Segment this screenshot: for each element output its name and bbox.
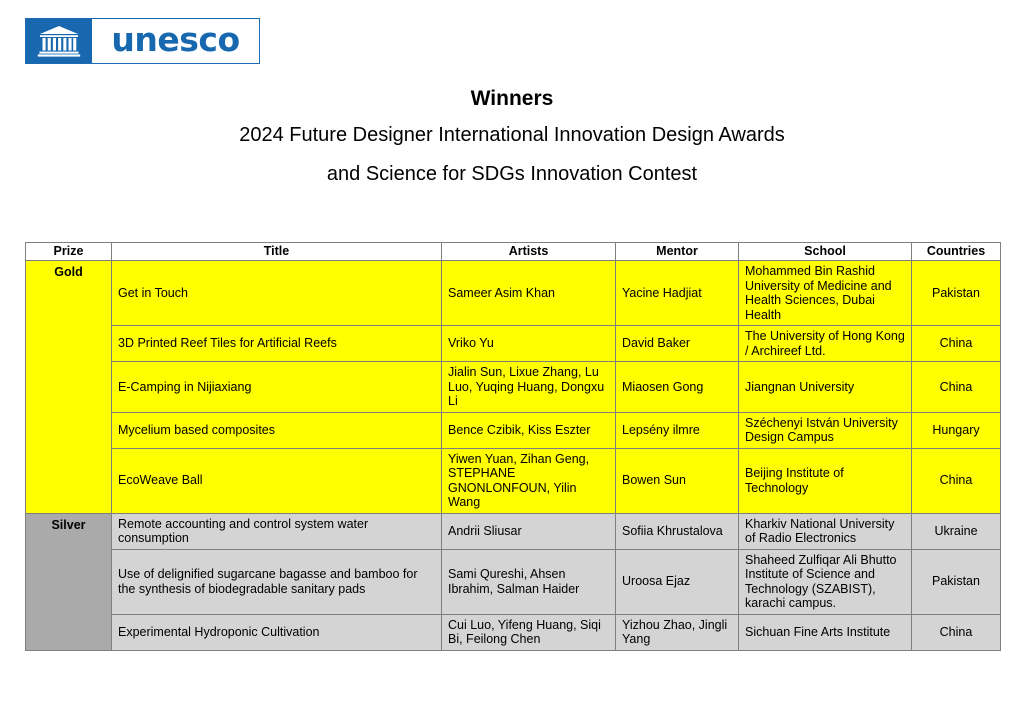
page-subtitle-line-2: and Science for SDGs Innovation Contest [0,155,1024,194]
cell-mentor: Miaosen Gong [616,362,739,413]
cell-mentor: Sofiia Khrustalova [616,513,739,549]
table-row: EcoWeave BallYiwen Yuan, Zihan Geng, STE… [26,448,1001,513]
column-header-countries: Countries [912,243,1001,261]
unesco-temple-icon [26,19,92,63]
cell-country: Pakistan [912,261,1001,326]
cell-title: Remote accounting and control system wat… [112,513,442,549]
cell-mentor: David Baker [616,326,739,362]
cell-title: Experimental Hydroponic Cultivation [112,614,442,650]
table-row: Use of delignified sugarcane bagasse and… [26,549,1001,614]
cell-country: China [912,614,1001,650]
cell-country: Hungary [912,412,1001,448]
cell-country: China [912,326,1001,362]
cell-artists: Bence Czibik, Kiss Eszter [442,412,616,448]
table-row: GoldGet in TouchSameer Asim KhanYacine H… [26,261,1001,326]
page-title-block: Winners 2024 Future Designer Internation… [0,82,1024,194]
cell-mentor: Yizhou Zhao, Jingli Yang [616,614,739,650]
table-row: Experimental Hydroponic CultivationCui L… [26,614,1001,650]
cell-title: E-Camping in Nijiaxiang [112,362,442,413]
cell-mentor: Yacine Hadjiat [616,261,739,326]
cell-school: Jiangnan University [739,362,912,413]
cell-school: Mohammed Bin Rashid University of Medici… [739,261,912,326]
prize-group-cell: Silver [26,513,112,650]
cell-title: 3D Printed Reef Tiles for Artificial Ree… [112,326,442,362]
page-subtitle-line-1: 2024 Future Designer International Innov… [0,116,1024,155]
table-header-row: Prize Title Artists Mentor School Countr… [26,243,1001,261]
column-header-prize: Prize [26,243,112,261]
cell-title: EcoWeave Ball [112,448,442,513]
cell-school: Beijing Institute of Technology [739,448,912,513]
column-header-artists: Artists [442,243,616,261]
unesco-wordmark: unesco [92,19,259,63]
cell-country: Pakistan [912,549,1001,614]
cell-title: Mycelium based composites [112,412,442,448]
cell-school: Sichuan Fine Arts Institute [739,614,912,650]
cell-school: Kharkiv National University of Radio Ele… [739,513,912,549]
cell-mentor: Lepsény ilmre [616,412,739,448]
table-row: 3D Printed Reef Tiles for Artificial Ree… [26,326,1001,362]
page-title: Winners [0,82,1024,116]
cell-title: Use of delignified sugarcane bagasse and… [112,549,442,614]
cell-country: Ukraine [912,513,1001,549]
table-row: E-Camping in NijiaxiangJialin Sun, Lixue… [26,362,1001,413]
table-row: Mycelium based compositesBence Czibik, K… [26,412,1001,448]
cell-country: China [912,362,1001,413]
cell-school: Shaheed Zulfiqar Ali Bhutto Institute of… [739,549,912,614]
prize-group-cell: Gold [26,261,112,514]
cell-school: Széchenyi István University Design Campu… [739,412,912,448]
cell-artists: Sami Qureshi, Ahsen Ibrahim, Salman Haid… [442,549,616,614]
cell-artists: Yiwen Yuan, Zihan Geng, STEPHANE GNONLON… [442,448,616,513]
cell-artists: Cui Luo, Yifeng Huang, Siqi Bi, Feilong … [442,614,616,650]
column-header-school: School [739,243,912,261]
cell-title: Get in Touch [112,261,442,326]
cell-artists: Jialin Sun, Lixue Zhang, Lu Luo, Yuqing … [442,362,616,413]
table-body: GoldGet in TouchSameer Asim KhanYacine H… [26,261,1001,651]
cell-artists: Sameer Asim Khan [442,261,616,326]
cell-mentor: Uroosa Ejaz [616,549,739,614]
winners-table: Prize Title Artists Mentor School Countr… [25,242,1001,651]
column-header-title: Title [112,243,442,261]
cell-artists: Vriko Yu [442,326,616,362]
table-row: SilverRemote accounting and control syst… [26,513,1001,549]
cell-artists: Andrii Sliusar [442,513,616,549]
unesco-logo: unesco [25,18,260,64]
cell-school: The University of Hong Kong / Archireef … [739,326,912,362]
cell-mentor: Bowen Sun [616,448,739,513]
cell-country: China [912,448,1001,513]
column-header-mentor: Mentor [616,243,739,261]
